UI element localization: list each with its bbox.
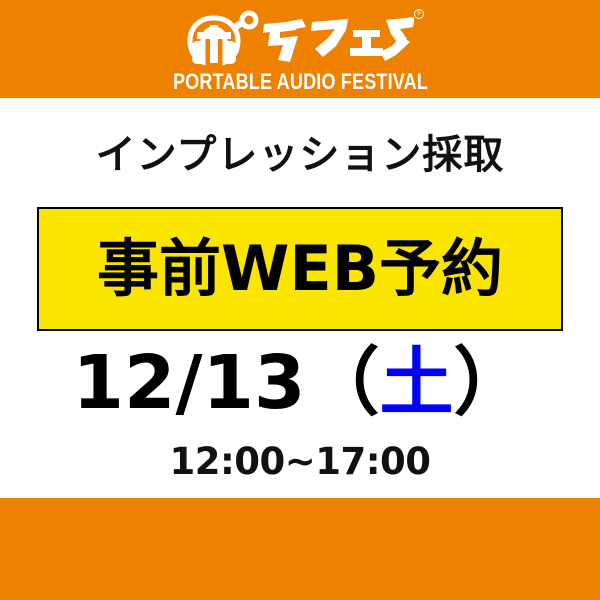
reservation-callout-label: 事前WEB予約 bbox=[97, 238, 503, 300]
logo-subtitle: PORTABLE AUDIO FESTIVAL bbox=[173, 69, 428, 95]
logo-wordmark-mark: ® bbox=[186, 8, 414, 66]
festival-logo: ® PORTABLE AUDIO FESTIVAL bbox=[0, 8, 600, 95]
reservation-callout-box: 事前WEB予約 bbox=[37, 207, 563, 331]
event-date-open-paren: （ bbox=[305, 340, 379, 426]
registered-trademark-icon: ® bbox=[414, 9, 424, 19]
event-date: 12/13（土） bbox=[0, 346, 600, 420]
footer-orange-band bbox=[0, 498, 600, 600]
poster-canvas: ® PORTABLE AUDIO FESTIVAL インプレッション採取 事前W… bbox=[0, 0, 600, 600]
event-time-range: 12:00~17:00 bbox=[0, 440, 600, 483]
event-date-value: 12/13 bbox=[73, 340, 306, 426]
page-headline: インプレッション採取 bbox=[0, 122, 600, 180]
event-day-of-week: 土 bbox=[379, 340, 453, 426]
event-date-close-paren: ） bbox=[453, 340, 527, 426]
